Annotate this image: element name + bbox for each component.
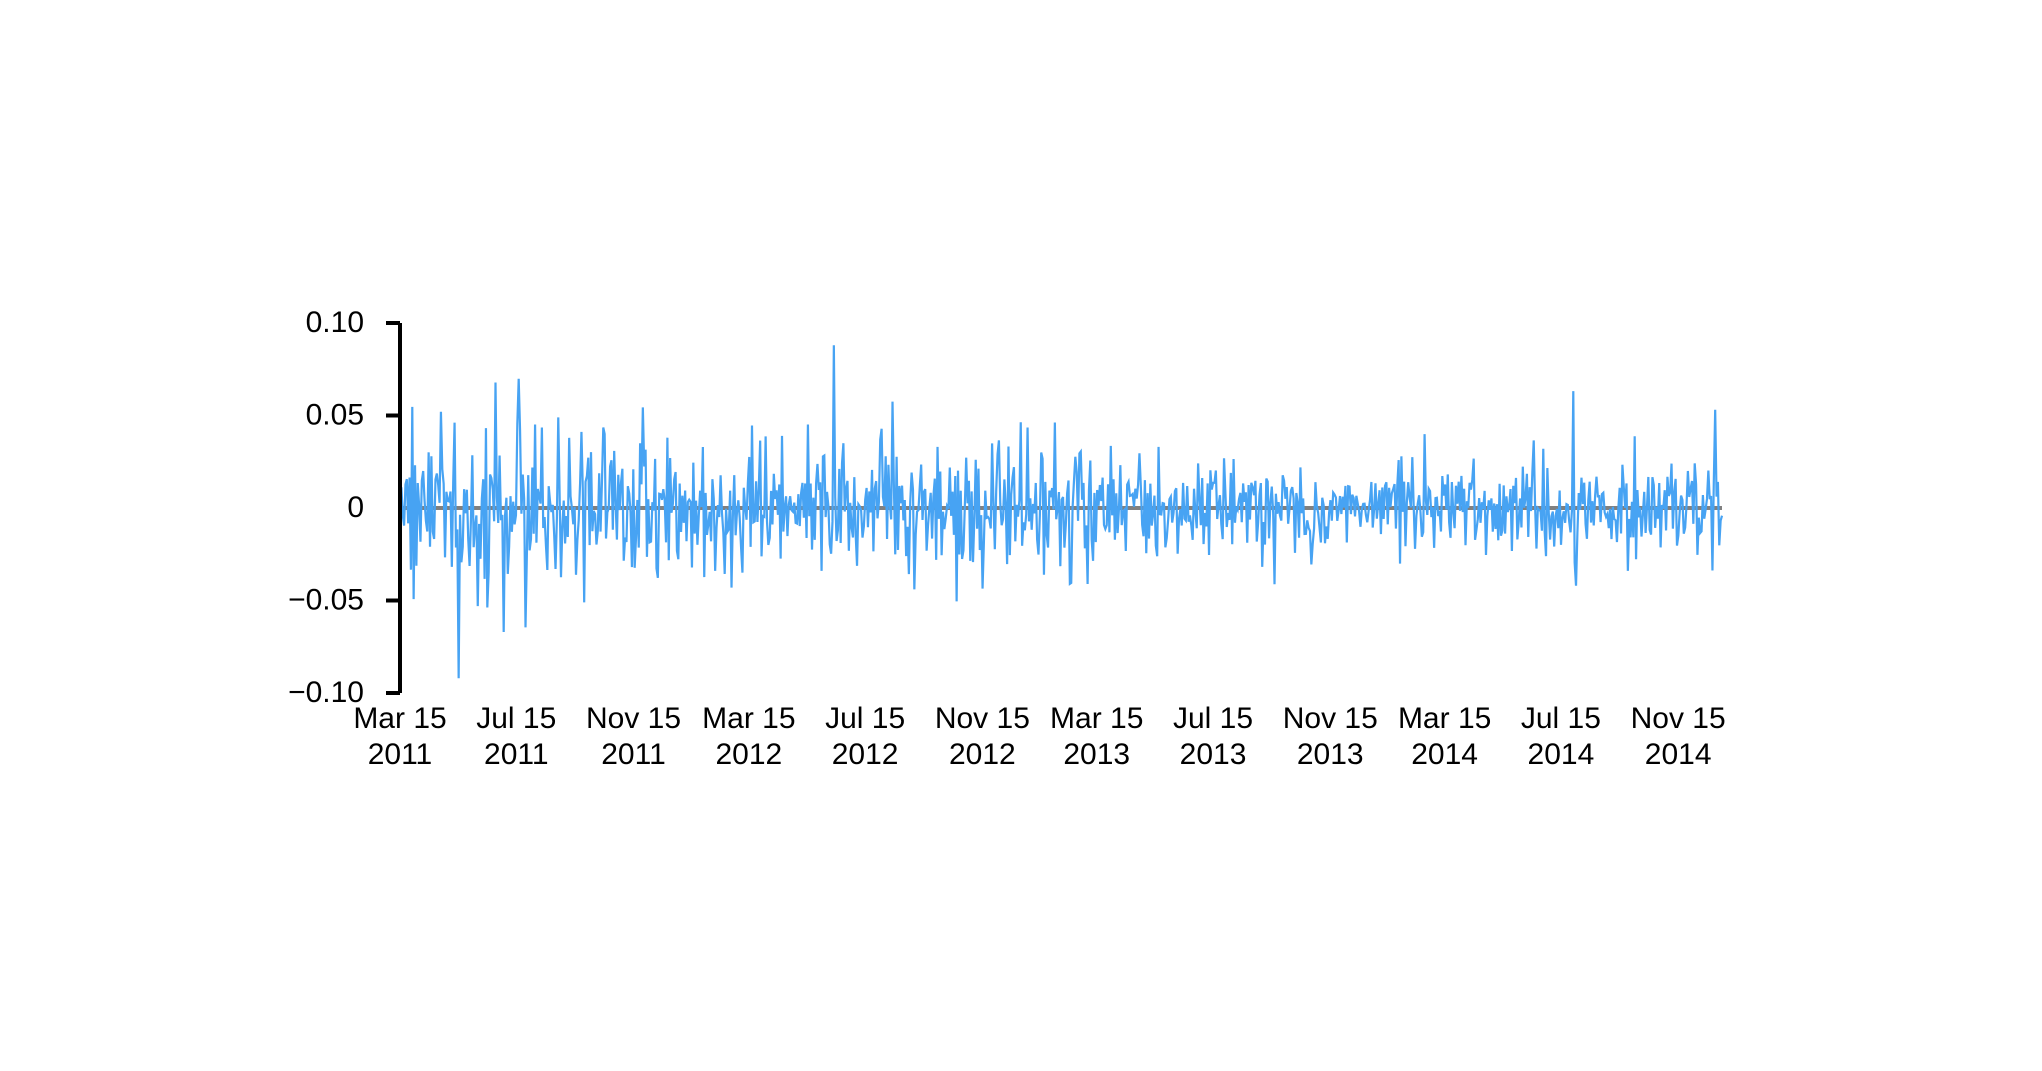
x-tick-label-year: 2013 [1297, 738, 1364, 771]
x-tick-label-month: Nov 15 [935, 702, 1030, 735]
x-tick-label-year: 2014 [1528, 738, 1595, 771]
x-tick-label-year: 2012 [832, 738, 899, 771]
x-tick-label-year: 2011 [484, 738, 549, 771]
y-tick-label: 0.10 [306, 306, 364, 339]
x-tick-label-month: Jul 15 [476, 702, 556, 735]
chart-figure: 0.100.050−0.05−0.10 Mar 152011Jul 152011… [0, 0, 2042, 1071]
y-axis-group: 0.100.050−0.05−0.10 [288, 306, 400, 709]
x-tick-label-month: Mar 15 [353, 702, 446, 735]
x-tick-label-month: Nov 15 [1631, 702, 1726, 735]
y-tick-label: 0 [347, 491, 364, 524]
x-tick-label-month: Jul 15 [1173, 702, 1253, 735]
x-tick-label-month: Jul 15 [825, 702, 905, 735]
daily-return-line [400, 345, 1722, 678]
x-tick-label-month: Nov 15 [1283, 702, 1378, 735]
x-tick-label-month: Mar 15 [1050, 702, 1143, 735]
x-tick-label-month: Mar 15 [702, 702, 795, 735]
returns-line-chart: 0.100.050−0.05−0.10 Mar 152011Jul 152011… [0, 0, 2042, 1071]
y-tick-marks [386, 323, 400, 693]
x-tick-label-year: 2014 [1645, 738, 1712, 771]
x-tick-labels: Mar 152011Jul 152011Nov 152011Mar 152012… [353, 702, 1725, 771]
x-tick-label-month: Mar 15 [1398, 702, 1491, 735]
x-tick-label-year: 2011 [601, 738, 666, 771]
y-tick-labels: 0.100.050−0.05−0.10 [288, 306, 364, 709]
x-tick-label-month: Jul 15 [1521, 702, 1601, 735]
x-tick-label-year: 2012 [949, 738, 1016, 771]
x-tick-label-year: 2012 [715, 738, 782, 771]
data-series-group [400, 345, 1722, 678]
x-tick-label-year: 2013 [1063, 738, 1130, 771]
y-tick-label: −0.05 [288, 583, 364, 616]
x-tick-label-year: 2014 [1411, 738, 1478, 771]
y-tick-label: 0.05 [306, 398, 364, 431]
x-tick-label-year: 2013 [1180, 738, 1247, 771]
x-tick-label-month: Nov 15 [586, 702, 681, 735]
x-tick-label-year: 2011 [368, 738, 433, 771]
